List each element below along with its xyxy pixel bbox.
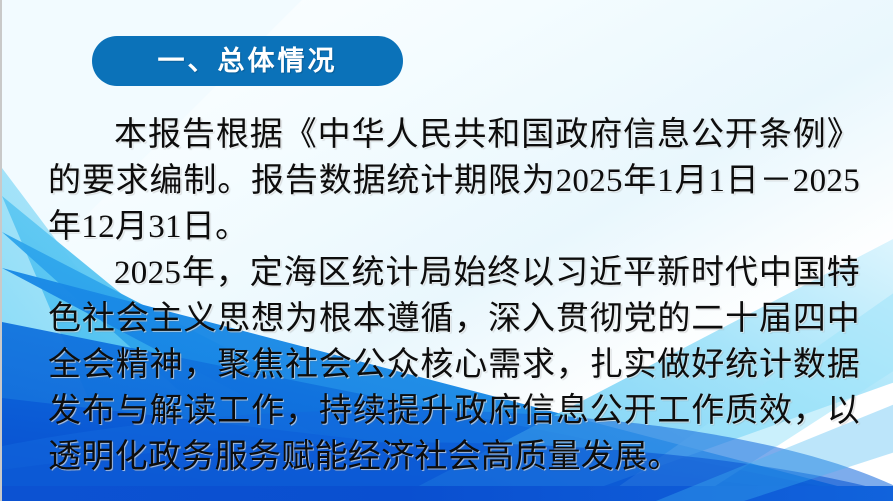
slide-canvas: 一、总体情况 本报告根据《中华人民共和国政府信息公开条例》的要求编制。报告数据统… <box>0 0 893 501</box>
section-heading-pill: 一、总体情况 <box>92 36 403 86</box>
body-text-block: 本报告根据《中华人民共和国政府信息公开条例》的要求编制。报告数据统计期限为202… <box>48 112 860 480</box>
paragraph-2: 2025年，定海区统计局始终以习近平新时代中国特色社会主义思想为根本遵循，深入贯… <box>48 250 860 480</box>
section-heading-label: 一、总体情况 <box>158 48 338 75</box>
paragraph-1: 本报告根据《中华人民共和国政府信息公开条例》的要求编制。报告数据统计期限为202… <box>48 112 860 250</box>
